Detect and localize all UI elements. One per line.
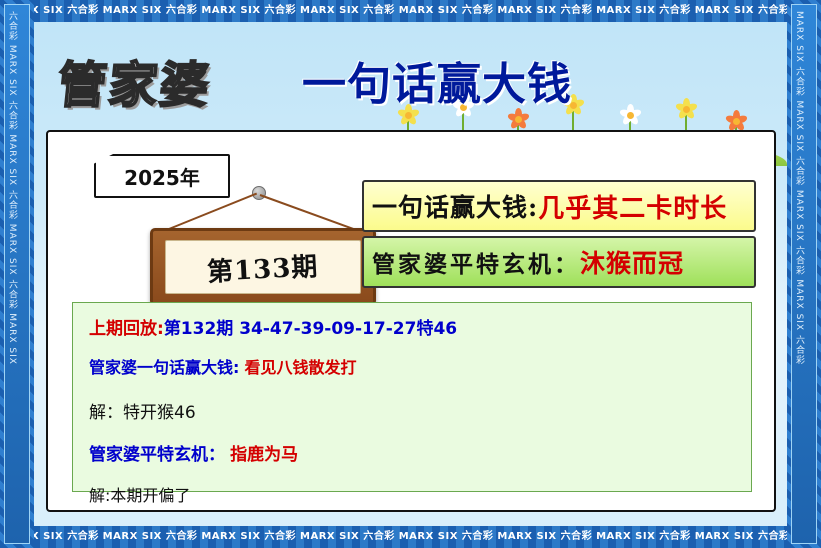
green-tip-band: 管家婆平特玄机： 沐猴而冠 xyxy=(362,236,756,288)
xuanji-row: 管家婆平特玄机： 指鹿为马 xyxy=(89,443,735,468)
flower-icon xyxy=(621,106,639,124)
replay-value: 第132期 34-47-39-09-17-27特46 xyxy=(164,319,457,339)
rope-right xyxy=(260,194,358,231)
answer-row-2: 解:本期开偏了 xyxy=(89,484,735,507)
history-panel: 上期回放:第132期 34-47-39-09-17-27特46 管家婆一句话赢大… xyxy=(72,302,752,492)
xuanji-label: 管家婆平特玄机： xyxy=(89,445,225,465)
left-border-text: 六合彩 MARX SIX 六合彩 MARX SIX 六合彩 MARX SIX 六… xyxy=(5,5,29,543)
yellow-tip-band: 一句话赢大钱: 几乎其二卡时长 xyxy=(362,180,756,232)
bottom-marquee-strip: MARX SIX 六合彩 MARX SIX 六合彩 MARX SIX 六合彩 M… xyxy=(0,526,821,548)
green-band-value: 沐猴而冠 xyxy=(580,244,684,280)
answer-text-2: 解:本期开偏了 xyxy=(89,486,190,505)
yellow-band-label: 一句话赢大钱: xyxy=(372,188,538,224)
page-title: 一句话赢大钱 xyxy=(302,48,572,112)
flower-icon xyxy=(677,100,695,118)
top-marquee-text: MARX SIX 六合彩 MARX SIX 六合彩 MARX SIX 六合彩 M… xyxy=(0,5,821,16)
right-border-inner: MARX SIX 六合彩 MARX SIX 六合彩 MARX SIX 六合彩 M… xyxy=(791,4,817,544)
replay-row: 上期回放:第132期 34-47-39-09-17-27特46 xyxy=(89,317,735,342)
flower-icon xyxy=(509,110,527,128)
yellow-band-value: 几乎其二卡时长 xyxy=(538,188,727,225)
answer-text-1: 解：特开猴46 xyxy=(89,403,196,423)
right-border-text: MARX SIX 六合彩 MARX SIX 六合彩 MARX SIX 六合彩 M… xyxy=(792,5,816,543)
answer-row-1: 解：特开猴46 xyxy=(89,401,735,426)
site-logo: 管家婆 xyxy=(54,46,214,117)
issue-paper: 第133期 xyxy=(165,240,361,294)
left-border-inner: 六合彩 MARX SIX 六合彩 MARX SIX 六合彩 MARX SIX 六… xyxy=(4,4,30,544)
rope-left xyxy=(164,193,257,232)
tip-label: 管家婆一句话赢大钱: xyxy=(89,358,239,377)
main-card: 2025年 第133期 一句话赢大钱: 几乎其二卡时长 管家婆平特玄机： 沐猴而… xyxy=(46,130,776,512)
bottom-marquee-text: MARX SIX 六合彩 MARX SIX 六合彩 MARX SIX 六合彩 M… xyxy=(0,531,821,542)
right-decorative-border: MARX SIX 六合彩 MARX SIX 六合彩 MARX SIX 六合彩 M… xyxy=(787,0,821,548)
tip-value: 看见八钱散发打 xyxy=(245,358,357,377)
issue-number: 第133期 xyxy=(206,246,319,289)
xuanji-value: 指鹿为马 xyxy=(230,445,298,465)
green-band-label: 管家婆平特玄机： xyxy=(372,245,580,279)
tip-row: 管家婆一句话赢大钱: 看见八钱散发打 xyxy=(89,356,735,379)
top-marquee-strip: MARX SIX 六合彩 MARX SIX 六合彩 MARX SIX 六合彩 M… xyxy=(0,0,821,22)
replay-label: 上期回放: xyxy=(89,319,164,339)
flower-icon xyxy=(727,112,745,130)
poster-stage: 管家婆 一句话赢大钱 2025年 第133期 一句话赢大钱: 几乎其二卡时长 管… xyxy=(34,22,787,526)
left-decorative-border: 六合彩 MARX SIX 六合彩 MARX SIX 六合彩 MARX SIX 六… xyxy=(0,0,34,548)
issue-board: 第133期 xyxy=(150,228,376,306)
